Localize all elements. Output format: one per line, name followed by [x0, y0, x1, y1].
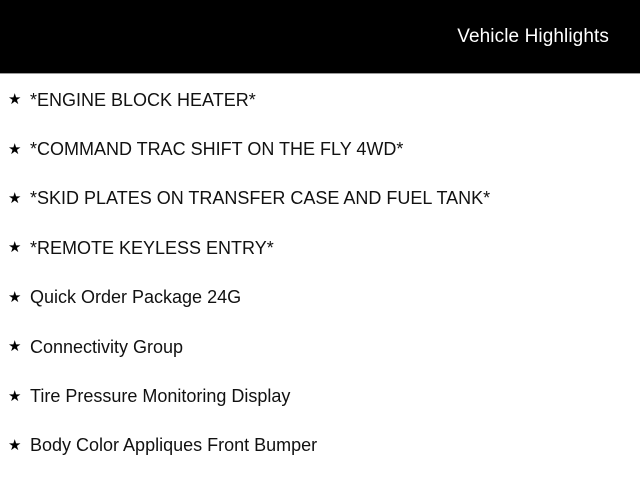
star-bullet-icon: ★ [8, 142, 30, 157]
star-bullet-icon: ★ [8, 191, 30, 206]
star-bullet-icon: ★ [8, 92, 30, 107]
header-bar: Vehicle Highlights [0, 0, 640, 74]
star-bullet-icon: ★ [8, 389, 30, 404]
list-item: ★ Quick Order Package 24G [0, 273, 640, 322]
list-item-label: *ENGINE BLOCK HEATER* [30, 91, 256, 109]
star-bullet-icon: ★ [8, 438, 30, 453]
list-item-label: *SKID PLATES ON TRANSFER CASE AND FUEL T… [30, 189, 490, 207]
list-item: ★ *COMMAND TRAC SHIFT ON THE FLY 4WD* [0, 124, 640, 173]
list-item-label: *REMOTE KEYLESS ENTRY* [30, 239, 274, 257]
list-item-label: Connectivity Group [30, 338, 183, 356]
list-item-label: Body Color Appliques Front Bumper [30, 436, 317, 454]
star-bullet-icon: ★ [8, 290, 30, 305]
list-item-label: Tire Pressure Monitoring Display [30, 387, 290, 405]
list-item-label: *COMMAND TRAC SHIFT ON THE FLY 4WD* [30, 140, 403, 158]
vehicle-highlights-page: Vehicle Highlights ★ *ENGINE BLOCK HEATE… [0, 0, 640, 480]
list-item: ★ *SKID PLATES ON TRANSFER CASE AND FUEL… [0, 174, 640, 223]
list-item: ★ Connectivity Group [0, 322, 640, 371]
list-item: ★ Tire Pressure Monitoring Display [0, 371, 640, 420]
vehicle-highlights-list: ★ *ENGINE BLOCK HEATER* ★ *COMMAND TRAC … [0, 75, 640, 470]
list-item: ★ *ENGINE BLOCK HEATER* [0, 75, 640, 124]
star-bullet-icon: ★ [8, 240, 30, 255]
page-title: Vehicle Highlights [457, 27, 640, 46]
list-item: ★ Body Color Appliques Front Bumper [0, 421, 640, 470]
list-item: ★ *REMOTE KEYLESS ENTRY* [0, 223, 640, 272]
list-item-label: Quick Order Package 24G [30, 288, 241, 306]
star-bullet-icon: ★ [8, 339, 30, 354]
